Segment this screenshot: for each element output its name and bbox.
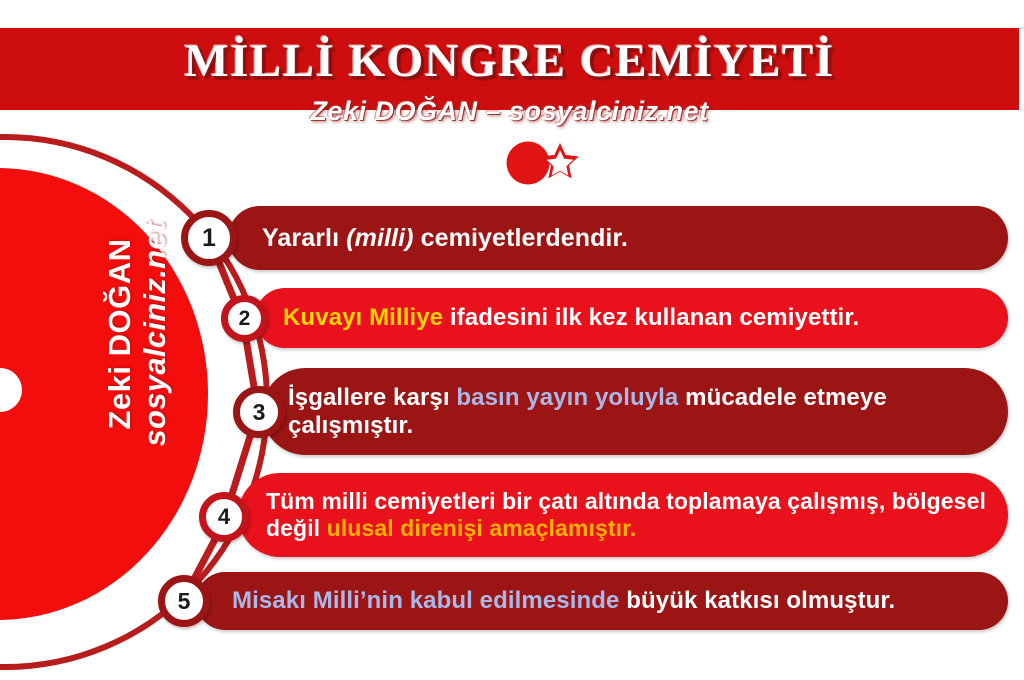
step-badge-2: 2: [221, 295, 268, 342]
statement-segment: İşgallere karşı: [288, 384, 456, 411]
statement-segment: Misakı Milli’nin kabul edilmesinde: [232, 587, 620, 614]
statement-text-1: Yararlı (milli) cemiyetlerdendir.: [262, 224, 628, 253]
statement-text-4: Tüm milli cemiyetleri bir çatı altında t…: [266, 488, 988, 541]
statement-text-3: İşgallere karşı basın yayın yoluyla müca…: [288, 384, 988, 440]
statement-text-2: Kuvayı Milliye ifadesini ilk kez kullana…: [283, 304, 859, 332]
step-badge-3: 3: [233, 386, 285, 438]
statement-segment: basın yayın yoluyla: [456, 384, 678, 411]
step-badge-4: 4: [199, 492, 249, 542]
statement-segment: Kuvayı Milliye: [283, 304, 443, 331]
statement-segment: büyük katkısı olmuştur.: [620, 587, 896, 614]
statement-segment: cemiyetlerdendir.: [414, 224, 628, 252]
infographic-page: MİLLİ KONGRE CEMİYETİ Zeki DOĞAN – sosya…: [0, 0, 1024, 680]
statement-bar-4: Tüm milli cemiyetleri bir çatı altında t…: [238, 473, 1008, 557]
statement-bar-2: Kuvayı Milliye ifadesini ilk kez kullana…: [255, 288, 1008, 348]
step-badge-1: 1: [181, 210, 237, 266]
statement-segment: ulusal direnişi amaçlamıştır.: [327, 515, 637, 541]
statement-segment: (milli): [346, 224, 413, 252]
statement-segment: Yararlı: [262, 224, 346, 252]
turkish-crescent-star-icon: [484, 131, 580, 195]
page-title: MİLLİ KONGRE CEMİYETİ: [0, 34, 1019, 88]
page-subtitle: Zeki DOĞAN – sosyalciniz.net: [0, 96, 1019, 127]
statement-bar-1: Yararlı (milli) cemiyetlerdendir.: [228, 206, 1008, 270]
step-badge-5: 5: [158, 575, 210, 627]
statement-bar-5: Misakı Milli’nin kabul edilmesinde büyük…: [196, 572, 1008, 630]
statement-bar-3: İşgallere karşı basın yayın yoluyla müca…: [262, 368, 1008, 455]
statement-text-5: Misakı Milli’nin kabul edilmesinde büyük…: [232, 587, 895, 615]
statement-segment: ifadesini ilk kez kullanan cemiyettir.: [443, 304, 859, 331]
